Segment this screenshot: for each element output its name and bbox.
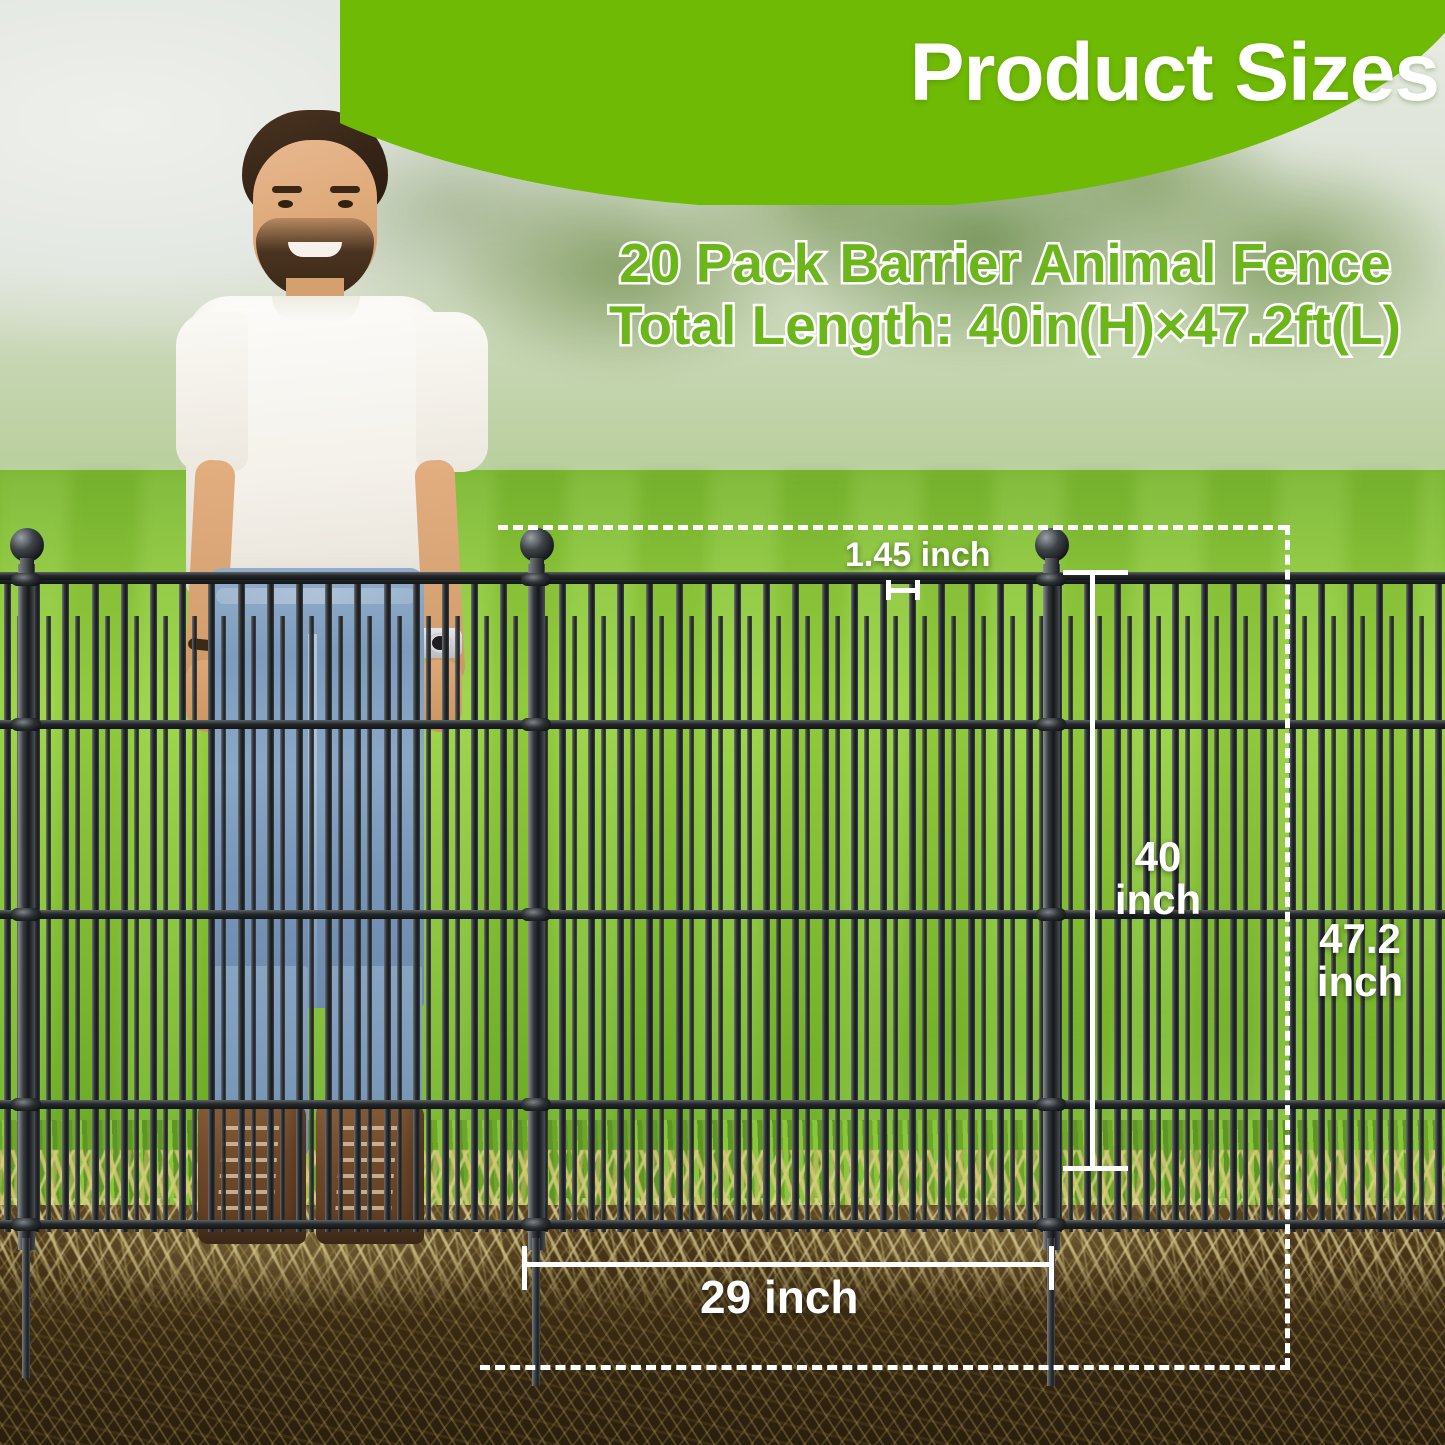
panel-width-line bbox=[522, 1262, 1054, 1267]
fence-rail-joint bbox=[1036, 573, 1066, 586]
fence-vertical-bar bbox=[413, 578, 420, 1232]
fence-vertical-bar bbox=[500, 578, 507, 1232]
fence-vertical-bar bbox=[62, 578, 69, 1232]
fence-vertical-bar bbox=[1406, 578, 1413, 1232]
fence-post bbox=[1043, 564, 1060, 1250]
fence-vertical-bar bbox=[179, 578, 186, 1232]
fence-vertical-bar bbox=[208, 578, 215, 1232]
fence-vertical-bar-inner bbox=[776, 616, 781, 1232]
fence-vertical-bar bbox=[822, 578, 829, 1232]
above-ground-height-line bbox=[1090, 570, 1095, 1170]
fence-vertical-bar bbox=[1260, 578, 1267, 1232]
panel-width-cap-left bbox=[522, 1246, 527, 1290]
fence-rail-joint bbox=[521, 1218, 551, 1231]
fence-vertical-bar bbox=[792, 578, 799, 1232]
fence-rail-joint bbox=[521, 1098, 551, 1111]
fence-post bbox=[18, 564, 35, 1250]
fence-vertical-bar bbox=[121, 578, 128, 1232]
fence-vertical-bar bbox=[1230, 578, 1237, 1232]
fence-vertical-bar-inner bbox=[1156, 616, 1161, 1232]
fence-vertical-bar bbox=[734, 578, 741, 1232]
fence-vertical-bar-inner bbox=[893, 616, 898, 1232]
fence-vertical-bar-inner bbox=[338, 616, 343, 1232]
fence-rail-joint bbox=[1036, 718, 1066, 731]
fence-vertical-bar bbox=[4, 578, 11, 1232]
fence-rail-joint bbox=[521, 908, 551, 921]
fence-vertical-bar-inner bbox=[601, 616, 606, 1232]
fence-vertical-bar bbox=[1289, 578, 1296, 1232]
fence-vertical-bar bbox=[384, 578, 391, 1232]
fence-vertical-bar-inner bbox=[630, 616, 635, 1232]
fence-vertical-bar-inner bbox=[981, 616, 986, 1232]
height-bottom-cap bbox=[1063, 1166, 1128, 1171]
fence-vertical-bar-inner bbox=[280, 616, 285, 1232]
fence-rail-joint bbox=[1036, 908, 1066, 921]
label-total-panel-height: 47.2 inch bbox=[1295, 918, 1425, 1004]
fence-vertical-bar-inner bbox=[105, 616, 110, 1232]
fence-rail-joint bbox=[11, 908, 41, 921]
fence-vertical-bar bbox=[968, 578, 975, 1232]
sleeve-left bbox=[176, 312, 248, 472]
fence-vertical-bar bbox=[1435, 578, 1442, 1232]
label-bar-spacing: 1.45 inch bbox=[845, 538, 991, 573]
bar-spacing-cap-left bbox=[886, 580, 891, 600]
fence-vertical-bar bbox=[150, 578, 157, 1232]
fence-post-finial-ball bbox=[1035, 528, 1069, 562]
fence-rail-joint bbox=[521, 573, 551, 586]
fence-post-finial-ball bbox=[520, 528, 554, 562]
fence-vertical-bar-inner bbox=[659, 616, 664, 1232]
bar-spacing-cap-right bbox=[915, 580, 920, 600]
fence-vertical-bar bbox=[617, 578, 624, 1232]
fence-vertical-bar-inner bbox=[426, 616, 431, 1232]
label-panel-width: 29 inch bbox=[700, 1274, 859, 1321]
fence-vertical-bar-inner bbox=[864, 616, 869, 1232]
shirt-collar bbox=[272, 296, 360, 322]
fence-rail-joint bbox=[11, 718, 41, 731]
label-above-ground-height: 40 inch bbox=[1098, 836, 1218, 922]
fence-vertical-bar bbox=[92, 578, 99, 1232]
fence-vertical-bar bbox=[938, 578, 945, 1232]
fence-vertical-bar bbox=[588, 578, 595, 1232]
fence-vertical-bar-inner bbox=[1243, 616, 1248, 1232]
wire-fence bbox=[0, 520, 1445, 1280]
fence-vertical-bar bbox=[1347, 578, 1354, 1232]
height-top-cap bbox=[1063, 570, 1128, 575]
fence-vertical-bar-inner bbox=[221, 616, 226, 1232]
smile bbox=[288, 242, 342, 257]
fence-vertical-bar-inner bbox=[513, 616, 518, 1232]
fence-vertical-bar-inner bbox=[1097, 616, 1102, 1232]
fence-vertical-bar-inner bbox=[251, 616, 256, 1232]
fence-vertical-bar-inner bbox=[367, 616, 372, 1232]
fence-top-rail bbox=[0, 572, 1445, 580]
fence-rail-joint bbox=[11, 1218, 41, 1231]
fence-vertical-bar bbox=[1318, 578, 1325, 1232]
product-size-infographic: 47.2 inch 40 inch 1.45 inch 29 inch Prod… bbox=[0, 0, 1445, 1445]
fence-vertical-bar bbox=[1376, 578, 1383, 1232]
fence-vertical-bar bbox=[325, 578, 332, 1232]
fence-vertical-bar bbox=[909, 578, 916, 1232]
total-height-right-dashed-line bbox=[1285, 525, 1290, 1368]
fence-vertical-bar bbox=[880, 578, 887, 1232]
fence-horizontal-rail bbox=[0, 1220, 1445, 1229]
fence-vertical-bar bbox=[851, 578, 858, 1232]
fence-horizontal-rail bbox=[0, 1100, 1445, 1109]
fence-vertical-bar bbox=[238, 578, 245, 1232]
fence-vertical-bar-inner bbox=[572, 616, 577, 1232]
headline-line-2: Total Length: 40in(H)×47.2ft(L) bbox=[575, 295, 1435, 357]
fence-vertical-bar bbox=[763, 578, 770, 1232]
total-height-bottom-dashed-line bbox=[480, 1365, 1290, 1370]
eyebrow-left bbox=[272, 186, 302, 193]
fence-vertical-bar-inner bbox=[1068, 616, 1073, 1232]
fence-vertical-bar-inner bbox=[835, 616, 840, 1232]
fence-vertical-bar-inner bbox=[718, 616, 723, 1232]
fence-rail-joint bbox=[1036, 1098, 1066, 1111]
fence-vertical-bar bbox=[676, 578, 683, 1232]
sleeve-right bbox=[416, 312, 488, 472]
fence-vertical-bar bbox=[442, 578, 449, 1232]
fence-vertical-bar-inner bbox=[134, 616, 139, 1232]
fence-vertical-bar-inner bbox=[46, 616, 51, 1232]
fence-rail-joint bbox=[1036, 1218, 1066, 1231]
fence-vertical-bar-inner bbox=[747, 616, 752, 1232]
fence-vertical-bar bbox=[559, 578, 566, 1232]
fence-vertical-bar bbox=[354, 578, 361, 1232]
fence-vertical-bar-inner bbox=[75, 616, 80, 1232]
fence-vertical-bar-inner bbox=[309, 616, 314, 1232]
fence-vertical-bar bbox=[267, 578, 274, 1232]
fence-rail-joint bbox=[11, 1098, 41, 1111]
fence-horizontal-rail bbox=[0, 910, 1445, 919]
fence-rail-joint bbox=[521, 718, 551, 731]
fence-vertical-bar bbox=[471, 578, 478, 1232]
fence-vertical-bar-inner bbox=[1214, 616, 1219, 1232]
fence-rail-joint bbox=[11, 573, 41, 586]
fence-ground-stake bbox=[532, 1238, 540, 1386]
fence-vertical-bar-inner bbox=[1185, 616, 1190, 1232]
fence-vertical-bar-inner bbox=[689, 616, 694, 1232]
panel-width-cap-right bbox=[1049, 1246, 1054, 1290]
fence-horizontal-rail bbox=[0, 720, 1445, 729]
product-headline: 20 Pack Barrier Animal Fence Total Lengt… bbox=[575, 233, 1435, 356]
fence-vertical-bar bbox=[646, 578, 653, 1232]
fence-vertical-bar bbox=[705, 578, 712, 1232]
fence-vertical-bar-inner bbox=[1273, 616, 1278, 1232]
fence-vertical-bar-inner bbox=[397, 616, 402, 1232]
headline-line-1: 20 Pack Barrier Animal Fence bbox=[575, 233, 1435, 295]
product-sizes-banner: Product Sizes bbox=[340, 0, 1445, 205]
fence-vertical-bar-inner bbox=[951, 616, 956, 1232]
eye-left bbox=[278, 200, 293, 208]
fence-vertical-bar-inner bbox=[805, 616, 810, 1232]
fence-vertical-bar-inner bbox=[163, 616, 168, 1232]
fence-vertical-bar bbox=[296, 578, 303, 1232]
total-height-top-dashed-line bbox=[498, 525, 1288, 530]
fence-vertical-bar-inner bbox=[455, 616, 460, 1232]
fence-vertical-bar-inner bbox=[1010, 616, 1015, 1232]
fence-vertical-bar bbox=[997, 578, 1004, 1232]
fence-post-finial-ball bbox=[10, 528, 44, 562]
fence-vertical-bar bbox=[1026, 578, 1033, 1232]
banner-title: Product Sizes bbox=[910, 32, 1439, 114]
fence-vertical-bar-inner bbox=[192, 616, 197, 1232]
fence-vertical-bar-inner bbox=[1127, 616, 1132, 1232]
fence-ground-stake bbox=[22, 1238, 30, 1378]
fence-vertical-bar-inner bbox=[484, 616, 489, 1232]
fence-vertical-bar-inner bbox=[922, 616, 927, 1232]
fence-post bbox=[528, 564, 545, 1250]
